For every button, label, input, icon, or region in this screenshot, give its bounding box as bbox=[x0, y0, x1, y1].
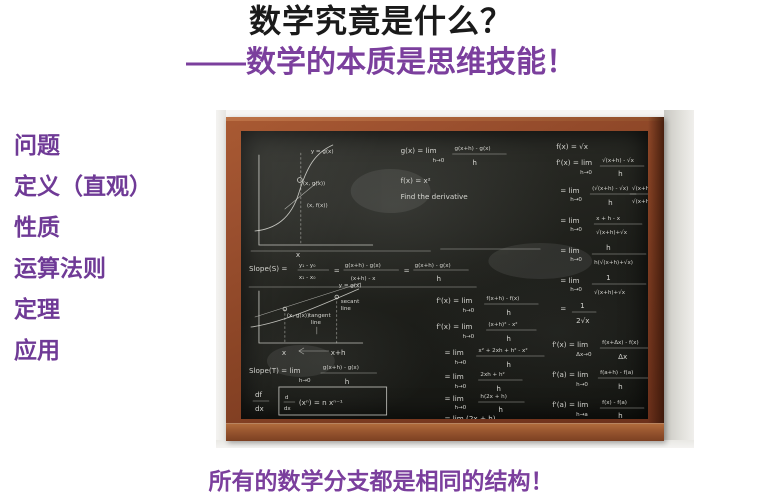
wall-background-top bbox=[216, 110, 694, 117]
svg-text:(x, f(x)): (x, f(x)) bbox=[307, 203, 328, 209]
blackboard-wooden-frame: y = g(x) (x, g(x)) (x, f(x)) x g(x) = li… bbox=[226, 117, 664, 441]
svg-text:x: x bbox=[296, 250, 301, 259]
svg-text:=: = bbox=[334, 266, 340, 275]
svg-text:g(x+h) - g(x): g(x+h) - g(x) bbox=[415, 263, 451, 269]
svg-text:h: h bbox=[606, 243, 611, 252]
svg-text:f'(a) = lim: f'(a) = lim bbox=[552, 370, 588, 379]
svg-text:h→0: h→0 bbox=[462, 308, 474, 314]
slope-secant-formula: Slope(S) = y₁ - y₀ x₁ - x₀ = g(x+h) - g(… bbox=[249, 263, 468, 283]
svg-text:Δx→0: Δx→0 bbox=[576, 352, 592, 358]
wall-background-bottom bbox=[216, 440, 694, 448]
svg-text:2√x: 2√x bbox=[576, 316, 590, 325]
svg-text:= lim: = lim bbox=[560, 216, 579, 225]
svg-text:g(x+h) - g(x): g(x+h) - g(x) bbox=[454, 146, 490, 152]
svg-text:1: 1 bbox=[606, 273, 611, 282]
graph-axes-top-left: y = g(x) (x, g(x)) (x, f(x)) x bbox=[255, 145, 373, 259]
svg-text:tangent: tangent bbox=[309, 313, 332, 319]
svg-text:√(x+h)+√x: √(x+h)+√x bbox=[596, 229, 628, 236]
svg-text:df: df bbox=[255, 390, 263, 399]
svg-text:(√(x+h) - √x): (√(x+h) - √x) bbox=[592, 185, 628, 192]
svg-text:x² + 2xh + h² - x²: x² + 2xh + h² - x² bbox=[478, 347, 527, 354]
blackboard-photo: y = g(x) (x, g(x)) (x, f(x)) x g(x) = li… bbox=[216, 110, 694, 448]
power-rule-boxed: df dx d dx (xⁿ) = n xⁿ⁻¹ bbox=[253, 387, 387, 415]
svg-text:h→0: h→0 bbox=[433, 158, 445, 164]
svg-text:f'(a) = lim: f'(a) = lim bbox=[552, 400, 588, 409]
list-item: 应用 bbox=[14, 339, 204, 362]
derivative-sqrt-x: f(x) = √x f'(x) = lim h→0 √(x+h) - √x h … bbox=[556, 142, 648, 325]
svg-text:f'(x) = lim: f'(x) = lim bbox=[437, 322, 473, 331]
svg-text:h→0: h→0 bbox=[454, 405, 466, 411]
svg-text:h: h bbox=[608, 198, 613, 207]
svg-text:√(x+h)+√x: √(x+h)+√x bbox=[632, 198, 648, 205]
concept-list: 问题 定义（直观） 性质 运算法则 定理 应用 bbox=[14, 134, 204, 380]
svg-text:h: h bbox=[472, 158, 477, 167]
chalk-tray bbox=[226, 423, 664, 441]
svg-text:h→0: h→0 bbox=[570, 227, 582, 233]
svg-text:h: h bbox=[345, 377, 350, 386]
svg-text:f(x+Δx) - f(x): f(x+Δx) - f(x) bbox=[602, 340, 639, 346]
title-block: 数学究竟是什么？ ——数学的本质是思维技能！ bbox=[0, 2, 762, 81]
svg-text:h: h bbox=[496, 384, 501, 393]
svg-text:(x+h) - x: (x+h) - x bbox=[351, 276, 376, 282]
list-item: 定理 bbox=[14, 298, 204, 321]
svg-text:h→0: h→0 bbox=[570, 287, 582, 293]
list-item: 运算法则 bbox=[14, 257, 204, 280]
svg-text:h(√(x+h)+√x): h(√(x+h)+√x) bbox=[594, 259, 633, 266]
svg-text:h→0: h→0 bbox=[580, 170, 592, 176]
svg-text:y = g(x): y = g(x) bbox=[311, 149, 334, 155]
svg-text:(x+h)² - x²: (x+h)² - x² bbox=[488, 321, 517, 328]
svg-text:f(a+h) - f(a): f(a+h) - f(a) bbox=[600, 370, 633, 376]
svg-text:= lim: = lim bbox=[445, 348, 464, 357]
wall-background-right bbox=[664, 110, 694, 448]
svg-text:d: d bbox=[285, 395, 289, 401]
svg-text:dx: dx bbox=[255, 404, 265, 413]
svg-text:√(x+h)+√x: √(x+h)+√x bbox=[594, 289, 626, 296]
svg-text:= lim: = lim bbox=[445, 372, 464, 381]
list-item: 性质 bbox=[14, 216, 204, 239]
svg-text:g(x+h) - g(x): g(x+h) - g(x) bbox=[345, 263, 381, 269]
svg-text:h: h bbox=[498, 405, 503, 414]
svg-text:h: h bbox=[506, 360, 511, 369]
svg-text:h→0: h→0 bbox=[570, 197, 582, 203]
svg-text:f(x) - f(a): f(x) - f(a) bbox=[602, 400, 627, 406]
svg-text:= lim: = lim bbox=[560, 186, 579, 195]
svg-text:f(x) = √x: f(x) = √x bbox=[556, 142, 589, 151]
blackboard-slate-surface: y = g(x) (x, g(x)) (x, f(x)) x g(x) = li… bbox=[241, 131, 648, 419]
frame-top-highlight bbox=[226, 117, 664, 121]
chalk-writing: y = g(x) (x, g(x)) (x, f(x)) x g(x) = li… bbox=[241, 131, 648, 419]
svg-text:h→0: h→0 bbox=[576, 382, 588, 388]
svg-text:(x, g(x)): (x, g(x)) bbox=[303, 181, 325, 187]
svg-text:h→0: h→0 bbox=[454, 384, 466, 390]
svg-text:line: line bbox=[341, 306, 352, 312]
svg-text:f'(x) = lim: f'(x) = lim bbox=[556, 158, 592, 167]
svg-text:h(2x + h): h(2x + h) bbox=[480, 394, 506, 400]
svg-text:h: h bbox=[506, 334, 511, 343]
list-item: 问题 bbox=[14, 134, 204, 157]
alternate-derivative-definitions: f'(x) = lim Δx→0 f(x+Δx) - f(x) Δx f'(a)… bbox=[552, 340, 648, 419]
svg-text:h→a: h→a bbox=[576, 412, 588, 418]
svg-text:h: h bbox=[618, 382, 623, 391]
page-subtitle: ——数学的本质是思维技能！ bbox=[0, 45, 762, 81]
svg-text:= lim: = lim bbox=[445, 394, 464, 403]
svg-text:(x, g(x)): (x, g(x)) bbox=[287, 313, 309, 319]
svg-text:h: h bbox=[618, 169, 623, 178]
svg-text:h: h bbox=[618, 411, 623, 419]
svg-text:line: line bbox=[311, 320, 322, 326]
list-item: 定义（直观） bbox=[14, 175, 204, 198]
svg-text:f'(x) = lim: f'(x) = lim bbox=[437, 296, 473, 305]
frame-right-shadow bbox=[648, 117, 664, 441]
derivative-x-squared: f'(x) = lim h→0 f(x+h) - f(x) h f'(x) = … bbox=[437, 296, 545, 419]
svg-text:1: 1 bbox=[580, 301, 585, 310]
svg-text:√(x+h) - √x: √(x+h) - √x bbox=[602, 157, 634, 164]
svg-text:h→0: h→0 bbox=[299, 378, 311, 384]
svg-text:secant: secant bbox=[341, 299, 360, 305]
svg-text:y = g(x): y = g(x) bbox=[339, 283, 362, 289]
svg-text:√(x+h)+√x: √(x+h)+√x bbox=[632, 185, 648, 192]
svg-text:y₁ - y₀: y₁ - y₀ bbox=[299, 263, 316, 269]
svg-text:= lim: = lim bbox=[560, 276, 579, 285]
svg-text:Slope(S) =: Slope(S) = bbox=[249, 264, 287, 273]
svg-text:x₁ - x₀: x₁ - x₀ bbox=[299, 275, 316, 281]
page-title: 数学究竟是什么？ bbox=[0, 2, 762, 41]
svg-text:f'(x) = lim: f'(x) = lim bbox=[552, 340, 588, 349]
svg-text:(xⁿ) = n xⁿ⁻¹: (xⁿ) = n xⁿ⁻¹ bbox=[299, 398, 343, 407]
svg-text:x+h: x+h bbox=[331, 348, 346, 357]
svg-text:f(x+h) - f(x): f(x+h) - f(x) bbox=[486, 296, 519, 302]
svg-text:=: = bbox=[404, 266, 410, 275]
svg-text:h: h bbox=[506, 308, 511, 317]
svg-text:g(x) = lim: g(x) = lim bbox=[401, 146, 437, 155]
svg-text:Δx: Δx bbox=[618, 352, 628, 361]
svg-text:=: = bbox=[560, 304, 566, 313]
svg-text:x + h - x: x + h - x bbox=[596, 216, 621, 222]
svg-text:h→0: h→0 bbox=[462, 334, 474, 340]
svg-text:h: h bbox=[437, 274, 442, 283]
svg-text:2xh + h²: 2xh + h² bbox=[480, 371, 504, 378]
wall-background-left bbox=[216, 110, 226, 448]
svg-text:= lim (2x + h): = lim (2x + h) bbox=[445, 414, 496, 419]
bottom-caption: 所有的数学分支都是相同的结构！ bbox=[0, 462, 762, 496]
svg-text:dx: dx bbox=[284, 406, 292, 412]
svg-text:h→0: h→0 bbox=[454, 360, 466, 366]
